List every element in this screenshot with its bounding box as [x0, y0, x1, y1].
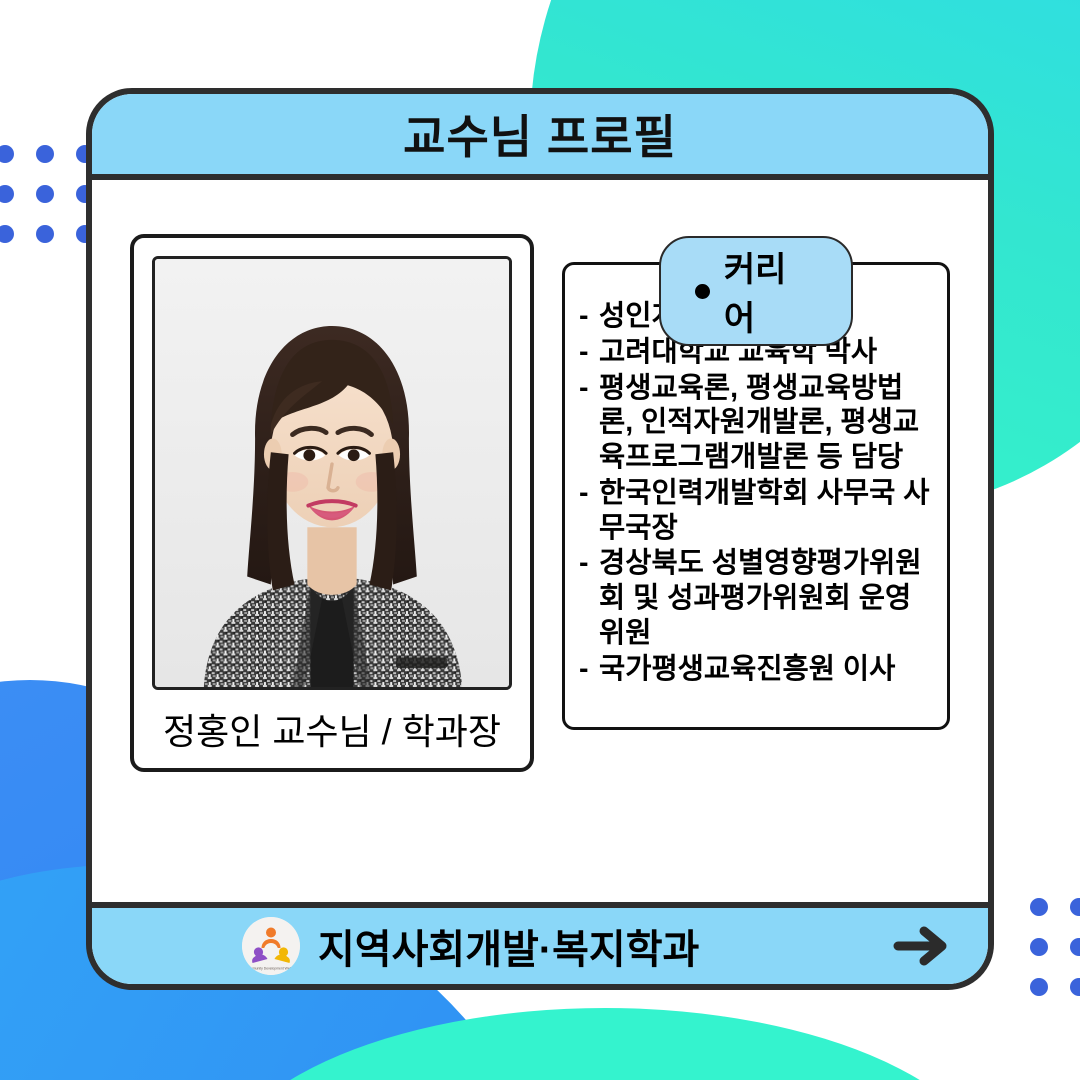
decor-dot-grid-left: [0, 145, 94, 243]
career-block: 커리어 - 성인계속교육학 전공 - 고려대학교 교육학 박사 -: [562, 262, 950, 730]
decor-dot: [1070, 898, 1080, 916]
logo-mark: Community Development Welfare: [242, 917, 300, 975]
career-list-item: - 평생교육론, 평생교육방법론, 인적자원개발론, 평생교육프로그램개발론 등…: [579, 371, 935, 475]
bullet-dot-icon: [695, 284, 710, 299]
decor-dot: [36, 185, 54, 203]
decor-dot: [0, 225, 14, 243]
profile-card: 교수님 프로필: [86, 88, 994, 990]
career-item-text: 한국인력개발학회 사무국 사무국장: [599, 476, 935, 546]
poster-canvas: 교수님 프로필: [0, 0, 1080, 1080]
logo-caption-text: Community Development Welfare: [246, 967, 297, 971]
decor-dot: [0, 145, 14, 163]
decor-dot: [36, 145, 54, 163]
career-dash: -: [579, 546, 599, 650]
photo-block: 정홍인 교수님 / 학과장: [130, 234, 534, 772]
career-dash: -: [579, 371, 599, 475]
decor-dot: [0, 185, 14, 203]
arrow-right-icon[interactable]: [892, 924, 954, 968]
career-list: - 성인계속교육학 전공 - 고려대학교 교육학 박사 - 평생교육론, 평생교…: [579, 299, 935, 686]
career-dash: -: [579, 476, 599, 546]
career-section-label: 커리어: [724, 242, 817, 340]
card-header: 교수님 프로필: [92, 94, 988, 180]
career-dash: -: [579, 299, 599, 334]
career-item-text: 평생교육론, 평생교육방법론, 인적자원개발론, 평생교육프로그램개발론 등 담…: [599, 371, 935, 475]
career-list-item: - 경상북도 성별영향평가위원회 및 성과평가위원회 운영위원: [579, 546, 935, 650]
career-item-text: 국가평생교육진흥원 이사: [599, 652, 935, 687]
professor-name-caption: 정홍인 교수님 / 학과장: [152, 690, 512, 768]
community-development-welfare-logo-icon: Community Development Welfare: [242, 917, 300, 975]
arrow-right-glyph: [892, 924, 954, 968]
career-dash: -: [579, 652, 599, 687]
professor-photo: [152, 256, 512, 690]
decor-dot: [36, 225, 54, 243]
career-dash: -: [579, 335, 599, 370]
decor-blob-bottom-mint: [210, 1008, 1000, 1080]
professor-portrait-illustration: [155, 259, 509, 687]
decor-dot: [1030, 938, 1048, 956]
career-list-item: - 한국인력개발학회 사무국 사무국장: [579, 476, 935, 546]
card-body: 정홍인 교수님 / 학과장 커리어 - 성인계속교육학 전공 -: [92, 180, 988, 902]
decor-dot: [1030, 898, 1048, 916]
decor-dot-grid-right: [1030, 898, 1080, 996]
card-footer: Community Development Welfare 지역사회개발·복지학…: [92, 902, 988, 984]
decor-dot: [1030, 978, 1048, 996]
career-section-pill: 커리어: [659, 236, 853, 346]
decor-dot: [1070, 978, 1080, 996]
department-name: 지역사회개발·복지학과: [300, 917, 892, 975]
page-title: 교수님 프로필: [403, 101, 677, 167]
career-list-item: - 국가평생교육진흥원 이사: [579, 652, 935, 687]
decor-dot: [1070, 938, 1080, 956]
career-item-text: 경상북도 성별영향평가위원회 및 성과평가위원회 운영위원: [599, 546, 935, 650]
